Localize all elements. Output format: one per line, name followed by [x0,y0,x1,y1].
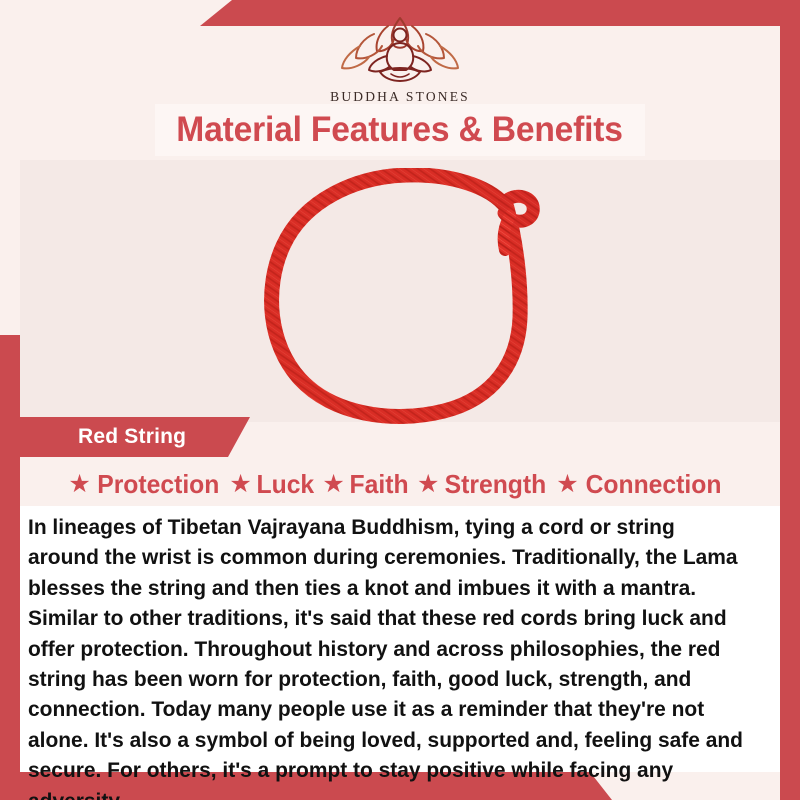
star-icon: ★ [68,472,90,497]
benefit-label: Connection [585,469,721,500]
benefit-item: ★ Protection [68,469,229,500]
red-braided-string-bracelet-icon [252,168,582,426]
infographic-canvas: BUDDHA STONES Material Features & Benefi… [0,0,800,800]
star-icon: ★ [229,472,251,497]
benefits-list: ★ Protection ★ Luck ★ Faith ★ Strength ★… [20,464,780,504]
benefit-label: Protection [97,469,219,500]
benefit-item: ★ Luck [229,469,322,500]
benefit-item: ★ Strength [417,469,556,500]
description-panel: In lineages of Tibetan Vajrayana Buddhis… [20,506,780,772]
product-name-ribbon: Red String [20,417,250,457]
star-icon: ★ [322,472,344,497]
benefit-item: ★ Faith [322,469,417,500]
description-text: In lineages of Tibetan Vajrayana Buddhis… [28,512,744,800]
product-image-area [20,160,780,422]
frame-left-band [0,335,20,800]
star-icon: ★ [556,472,578,497]
benefit-label: Strength [445,469,547,500]
product-name-label: Red String [78,425,186,449]
benefit-label: Faith [349,469,408,500]
page-title: Material Features & Benefits [177,110,624,150]
benefit-label: Luck [256,469,314,500]
benefit-item: ★ Connection [556,469,731,500]
title-banner: Material Features & Benefits [155,104,645,156]
brand-name: BUDDHA STONES [0,89,800,105]
star-icon: ★ [417,472,439,497]
frame-right-band [780,0,800,800]
brand-header: BUDDHA STONES [0,12,800,105]
lotus-meditation-icon [336,12,464,86]
